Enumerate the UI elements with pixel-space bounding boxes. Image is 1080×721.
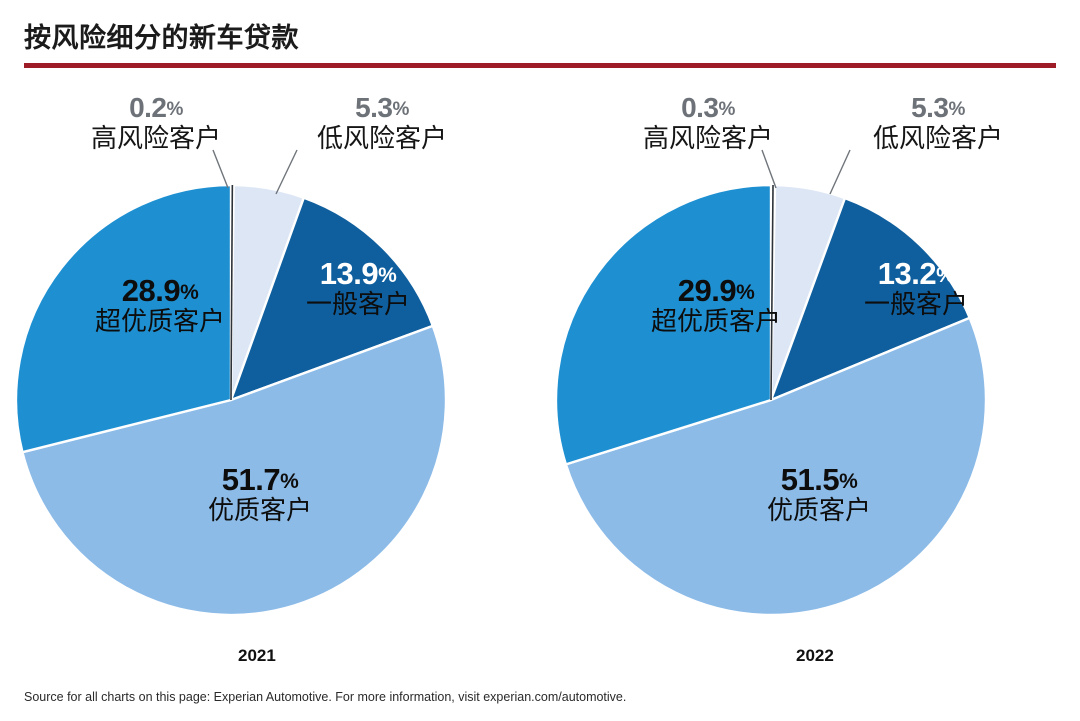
slice-label-prime-2022: 51.5% 优质客户	[724, 464, 914, 524]
leader-line-2021-low-risk	[276, 150, 297, 194]
slice-label-prime-2021: 51.7% 优质客户	[165, 464, 355, 524]
callout-high-risk-2022: 0.3% 高风险客户	[598, 94, 818, 152]
slice-name-super-prime-2021: 超优质客户	[60, 308, 260, 335]
chart-panel-2022: 0.3% 高风险客户 5.3% 低风险客户 13.2% 一般客户 51.5% 优…	[540, 78, 1080, 678]
leader-line-2021-high-risk	[213, 150, 228, 188]
slice-name-near-prime-2022: 一般客户	[821, 291, 1011, 318]
pie-chart-2022	[540, 78, 1080, 678]
slice-label-super-prime-2022: 29.9% 超优质客户	[616, 275, 816, 335]
slice-percent-super-prime-2022: 29.9%	[616, 275, 816, 306]
slice-name-super-prime-2022: 超优质客户	[616, 308, 816, 335]
slice-percent-near-prime-2021: 13.9%	[263, 258, 453, 289]
callout-high-risk-label-2021: 高风险客户	[46, 125, 266, 152]
slice-label-super-prime-2021: 28.9% 超优质客户	[60, 275, 260, 335]
slice-label-near-prime-2022: 13.2% 一般客户	[821, 258, 1011, 318]
leader-line-2022-high-risk	[762, 150, 776, 188]
pie-chart-2021	[0, 78, 540, 678]
callout-low-risk-2022: 5.3% 低风险客户	[828, 94, 1048, 152]
callout-high-risk-percent-2021: 0.2%	[46, 94, 266, 122]
leader-line-2022-low-risk	[830, 150, 850, 194]
callout-high-risk-2021: 0.2% 高风险客户	[46, 94, 266, 152]
page-title: 按风险细分的新车贷款	[24, 16, 299, 55]
slice-percent-prime-2022: 51.5%	[724, 464, 914, 495]
year-caption-2022: 2022	[796, 646, 834, 666]
chart-panel-2021: 0.2% 高风险客户 5.3% 低风险客户 13.9% 一般客户 51.7% 优…	[0, 78, 540, 678]
title-divider-rule	[24, 63, 1056, 68]
callout-low-risk-2021: 5.3% 低风险客户	[272, 94, 492, 152]
source-note: Source for all charts on this page: Expe…	[24, 690, 626, 704]
slice-percent-prime-2021: 51.7%	[165, 464, 355, 495]
callout-low-risk-percent-2022: 5.3%	[828, 94, 1048, 122]
callout-low-risk-percent-2021: 5.3%	[272, 94, 492, 122]
slice-label-near-prime-2021: 13.9% 一般客户	[263, 258, 453, 318]
slice-name-near-prime-2021: 一般客户	[263, 291, 453, 318]
slice-percent-near-prime-2022: 13.2%	[821, 258, 1011, 289]
callout-low-risk-label-2022: 低风险客户	[828, 125, 1048, 152]
pie-chart-row: 0.2% 高风险客户 5.3% 低风险客户 13.9% 一般客户 51.7% 优…	[0, 78, 1080, 678]
year-caption-2021: 2021	[238, 646, 276, 666]
callout-high-risk-percent-2022: 0.3%	[598, 94, 818, 122]
callout-low-risk-label-2021: 低风险客户	[272, 125, 492, 152]
slice-name-prime-2021: 优质客户	[165, 497, 355, 524]
callout-high-risk-label-2022: 高风险客户	[598, 125, 818, 152]
slice-name-prime-2022: 优质客户	[724, 497, 914, 524]
slice-percent-super-prime-2021: 28.9%	[60, 275, 260, 306]
